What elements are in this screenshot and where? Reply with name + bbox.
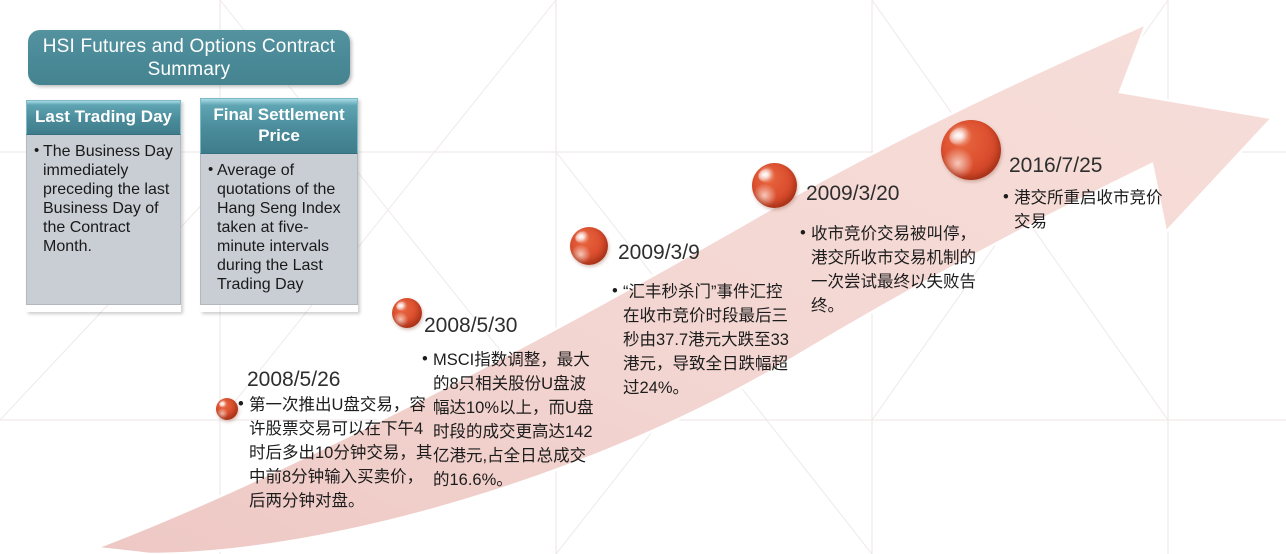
summary-title-text: HSI Futures and Options Contract Summary bbox=[28, 35, 350, 81]
milestone-marker-sphere bbox=[941, 120, 1001, 180]
milestone-description: 收市竞价交易被叫停，港交所收市交易机制的一次尝试最终以失败告终。 bbox=[800, 222, 988, 318]
milestone-bullet: 第一次推出U盘交易，容许股票交易可以在下午4时后多出10分钟交易，其中前8分钟输… bbox=[238, 393, 434, 513]
panel-final-settlement-price: Final Settlement Price Average of quotat… bbox=[200, 98, 358, 312]
milestone-description: “汇丰秒杀门”事件汇控在收市竞价时段最后三秒由37.7港元大跌至33港元，导致全… bbox=[612, 280, 796, 400]
milestone-bullet: 收市竞价交易被叫停，港交所收市交易机制的一次尝试最终以失败告终。 bbox=[800, 222, 988, 318]
summary-title-box: HSI Futures and Options Contract Summary bbox=[28, 30, 350, 85]
milestone-bullet: “汇丰秒杀门”事件汇控在收市竞价时段最后三秒由37.7港元大跌至33港元，导致全… bbox=[612, 280, 796, 400]
panel-last-trading-day-heading: Last Trading Day bbox=[26, 100, 181, 135]
milestone-marker-sphere bbox=[570, 227, 608, 265]
panel-final-settlement-price-heading: Final Settlement Price bbox=[200, 98, 358, 154]
milestone-bullet: 港交所重启收市竞价交易 bbox=[1003, 186, 1175, 234]
milestone-date: 2008/5/26 bbox=[247, 368, 340, 392]
milestone-date: 2009/3/9 bbox=[618, 241, 700, 265]
milestone-bullet: MSCI指数调整，最大的8只相关股份U盘波幅达10%以上，而U盘时段的成交更高达… bbox=[422, 348, 594, 492]
milestone-description: MSCI指数调整，最大的8只相关股份U盘波幅达10%以上，而U盘时段的成交更高达… bbox=[422, 348, 594, 492]
panel-last-trading-day-body: The Business Day immediately preceding t… bbox=[26, 135, 181, 305]
milestone-date: 2016/7/25 bbox=[1009, 154, 1102, 178]
panel-bullet: Average of quotations of the Hang Seng I… bbox=[208, 161, 351, 294]
milestone-date: 2008/5/30 bbox=[424, 314, 517, 338]
milestone-date: 2009/3/20 bbox=[806, 182, 899, 206]
panel-final-settlement-price-body: Average of quotations of the Hang Seng I… bbox=[200, 154, 358, 305]
milestone-marker-sphere bbox=[392, 298, 422, 328]
milestone-description: 第一次推出U盘交易，容许股票交易可以在下午4时后多出10分钟交易，其中前8分钟输… bbox=[238, 393, 434, 513]
milestone-description: 港交所重启收市竞价交易 bbox=[1003, 186, 1175, 234]
panel-bullet: The Business Day immediately preceding t… bbox=[34, 142, 174, 256]
milestone-marker-sphere bbox=[216, 398, 238, 420]
slide-canvas: HSI Futures and Options Contract Summary… bbox=[0, 0, 1286, 554]
panel-last-trading-day: Last Trading Day The Business Day immedi… bbox=[26, 100, 181, 312]
milestone-marker-sphere bbox=[752, 163, 797, 208]
